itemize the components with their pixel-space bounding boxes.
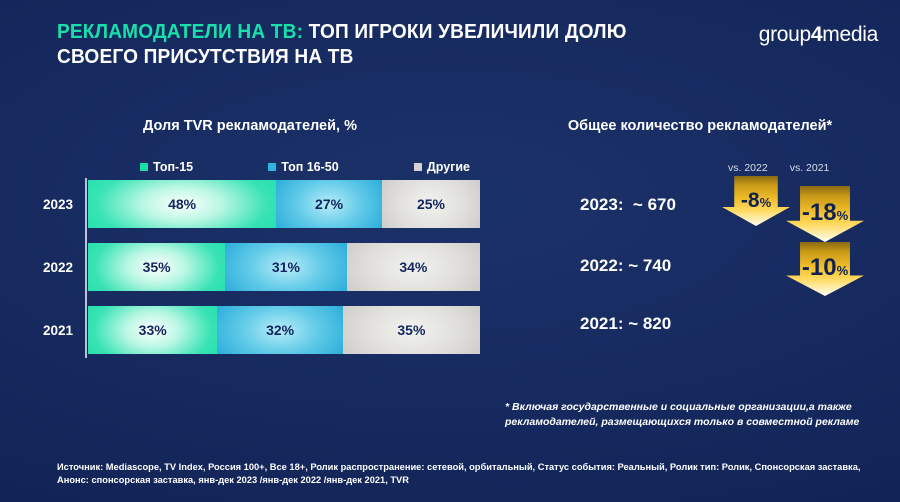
bar-segment-label: 25%	[417, 196, 445, 212]
badge-value: -18	[802, 199, 837, 226]
bar-segment-other: 35%	[343, 306, 480, 354]
page-title: Рекламодатели на ТВ: Топ игроки увеличил…	[57, 19, 671, 69]
bar-segment-label: 48%	[168, 196, 196, 212]
bar-segment-label: 35%	[143, 259, 171, 275]
badge-value: -8	[741, 189, 760, 212]
count-row-2021: 2021: ~ 820	[580, 314, 671, 334]
legend-item-top15: Топ-15	[140, 160, 193, 174]
logo-pre: group	[759, 23, 811, 46]
bar-segment-label: 34%	[399, 259, 427, 275]
legend-swatch-icon	[414, 163, 422, 171]
badge-unit: %	[837, 208, 849, 223]
bar-row: 2022 35% 31% 34%	[30, 243, 480, 291]
stacked-bar: 48% 27% 25%	[88, 180, 480, 228]
down-arrow-badge-10: -10%	[786, 242, 864, 296]
badge-unit: %	[837, 263, 849, 278]
legend-swatch-icon	[268, 163, 276, 171]
bar-segment-label: 35%	[397, 322, 425, 338]
vs-2021-label: vs. 2021	[790, 162, 830, 174]
advertiser-count-panel: Общее количество рекламодателей* vs. 202…	[500, 110, 900, 370]
header: Рекламодатели на ТВ: Топ игроки увеличил…	[57, 19, 717, 69]
page-title-accent: Рекламодатели на ТВ:	[57, 20, 303, 43]
bar-segment-label: 27%	[315, 196, 343, 212]
bar-segment-top15: 33%	[88, 306, 217, 354]
badge-text: -10%	[802, 256, 848, 280]
vs-2022-label: vs. 2022	[728, 162, 768, 174]
legend-label: Топ-15	[153, 160, 193, 174]
chart-legend: Топ-15 Топ 16-50 Другие	[140, 160, 470, 174]
bar-row-year: 2021	[30, 323, 82, 338]
down-arrow-badge-8: -8%	[722, 176, 790, 226]
legend-label: Топ 16-50	[281, 160, 338, 174]
comparison-labels: vs. 2022 vs. 2021	[728, 162, 898, 174]
bar-segment-label: 33%	[139, 322, 167, 338]
badge-text: -8%	[741, 190, 771, 211]
bar-segment-top1650: 31%	[225, 243, 347, 291]
source-note: Источник: Mediascope, TV Index, Россия 1…	[57, 461, 887, 486]
bar-segment-top1650: 27%	[276, 180, 382, 228]
legend-item-top1650: Топ 16-50	[268, 160, 338, 174]
bar-segment-other: 34%	[347, 243, 480, 291]
bar-row: 2021 33% 32% 35%	[30, 306, 480, 354]
bar-row-year: 2023	[30, 197, 82, 212]
bar-row: 2023 48% 27% 25%	[30, 180, 480, 228]
footnote: * Включая государственные и социальные о…	[505, 400, 895, 430]
badge-text: -18%	[802, 201, 848, 225]
badge-unit: %	[760, 195, 772, 210]
count-row-2022: 2022: ~ 740	[580, 256, 671, 276]
bar-segment-top15: 35%	[88, 243, 225, 291]
slide-canvas: Рекламодатели на ТВ: Топ игроки увеличил…	[0, 0, 900, 502]
chart-title: Доля TVR рекламодателей, %	[0, 118, 500, 134]
tvr-share-chart: Доля TVR рекламодателей, % Топ-15 Топ 16…	[0, 110, 500, 370]
bar-segment-other: 25%	[382, 180, 480, 228]
badge-value: -10	[802, 254, 837, 281]
legend-label: Другие	[427, 160, 470, 174]
bar-segment-label: 32%	[266, 322, 294, 338]
stacked-bar: 35% 31% 34%	[88, 243, 480, 291]
bar-segment-top15: 48%	[88, 180, 276, 228]
legend-item-other: Другие	[414, 160, 470, 174]
logo-post: media	[822, 23, 878, 46]
brand-logo: group4media	[759, 23, 878, 47]
down-arrow-badge-18: -18%	[786, 186, 864, 242]
bar-segment-top1650: 32%	[217, 306, 342, 354]
bar-segment-label: 31%	[272, 259, 300, 275]
legend-swatch-icon	[140, 163, 148, 171]
stacked-bar: 33% 32% 35%	[88, 306, 480, 354]
logo-mid: 4	[811, 23, 822, 46]
counts-title: Общее количество рекламодателей*	[500, 118, 900, 134]
count-row-2023: 2023: ~ 670	[580, 195, 676, 215]
bar-row-year: 2022	[30, 260, 82, 275]
